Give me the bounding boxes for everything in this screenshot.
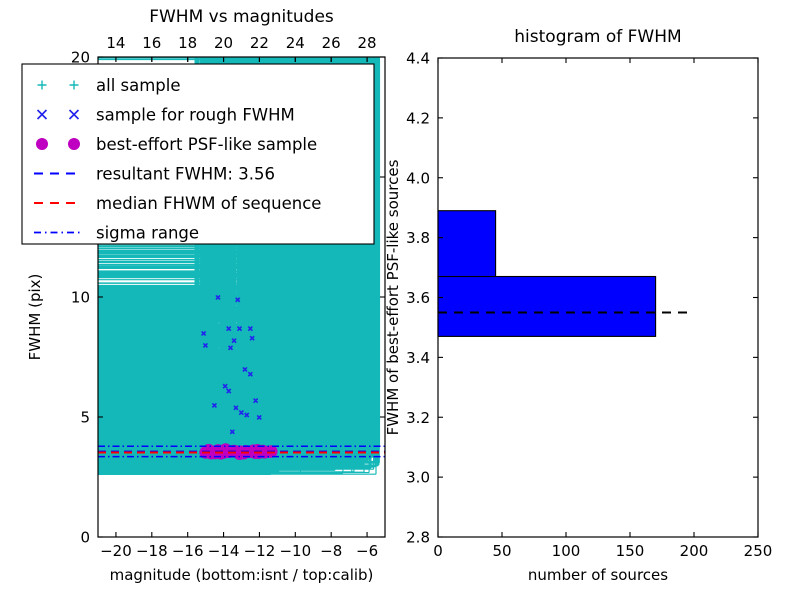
legend-circle-icon bbox=[68, 138, 80, 150]
right-xticklabel: 250 bbox=[744, 542, 773, 560]
right-yticklabel: 3.2 bbox=[406, 409, 430, 427]
left-xticklabel: −14 bbox=[208, 542, 240, 560]
right-yticklabel: 3.0 bbox=[406, 469, 430, 487]
left-xticklabel: −20 bbox=[100, 542, 132, 560]
legend-box bbox=[22, 64, 374, 244]
plot-canvas: −20−18−16−14−12−10−8−6141618202224262805… bbox=[0, 0, 800, 600]
left-top-xticklabel: 18 bbox=[178, 34, 197, 52]
left-yticklabel: 5 bbox=[80, 409, 90, 427]
histogram-bar bbox=[438, 211, 496, 277]
right-yaxis-label: FWHM of best-effort PSF-like sources bbox=[384, 159, 402, 435]
legend-item-label: all sample bbox=[96, 76, 181, 95]
left-top-xticklabel: 26 bbox=[322, 34, 341, 52]
scatter-psf-like-sample bbox=[199, 443, 277, 460]
legend-circle-icon bbox=[36, 138, 48, 150]
right-xticklabel: 150 bbox=[616, 542, 645, 560]
left-top-xticklabel: 20 bbox=[214, 34, 233, 52]
left-xticklabel: −12 bbox=[244, 542, 276, 560]
left-top-xticklabel: 16 bbox=[142, 34, 161, 52]
legend-item-label: resultant FWHM: 3.56 bbox=[96, 165, 275, 184]
left-top-xticklabel: 22 bbox=[250, 34, 269, 52]
right-xticklabel: 100 bbox=[552, 542, 581, 560]
left-top-xticklabel: 14 bbox=[106, 34, 125, 52]
left-yticklabel: 0 bbox=[80, 529, 90, 547]
left-xticklabel: −16 bbox=[172, 542, 204, 560]
right-yticklabel: 2.8 bbox=[406, 529, 430, 547]
right-xaxis-label: number of sources bbox=[528, 566, 668, 584]
left-yaxis-label: FWHM (pix) bbox=[26, 274, 44, 361]
left-xticklabel: −10 bbox=[279, 542, 311, 560]
right-yticklabel: 4.0 bbox=[406, 169, 430, 187]
left-xticklabel: −18 bbox=[136, 542, 168, 560]
right-yticklabel: 3.4 bbox=[406, 349, 430, 367]
legend-item-label: sample for rough FWHM bbox=[96, 106, 295, 125]
right-yticklabel: 3.8 bbox=[406, 229, 430, 247]
right-panel-title: histogram of FWHM bbox=[514, 27, 681, 47]
legend-item-label: sigma range bbox=[96, 224, 199, 243]
left-panel-title: FWHM vs magnitudes bbox=[149, 7, 334, 27]
left-top-xticklabel: 24 bbox=[286, 34, 305, 52]
right-xticklabel: 50 bbox=[492, 542, 511, 560]
right-xticklabel: 0 bbox=[433, 542, 443, 560]
right-xticklabel: 200 bbox=[680, 542, 709, 560]
left-panel-legend[interactable]: all samplesample for rough FWHMbest-effo… bbox=[22, 64, 374, 244]
right-yticklabel: 3.6 bbox=[406, 289, 430, 307]
left-xticklabel: −6 bbox=[356, 542, 378, 560]
right-yticklabel: 4.2 bbox=[406, 109, 430, 127]
left-top-xticklabel: 28 bbox=[358, 34, 377, 52]
legend-item-label: best-effort PSF-like sample bbox=[96, 135, 317, 154]
right-panel-histogram: 0501001502002502.83.03.23.43.63.84.04.24… bbox=[384, 27, 772, 584]
left-xticklabel: −8 bbox=[320, 542, 342, 560]
right-yticklabel: 4.4 bbox=[406, 50, 430, 68]
histogram-bar bbox=[438, 277, 656, 337]
legend-item-label: median FHWM of sequence bbox=[96, 194, 321, 213]
left-xaxis-label: magnitude (bottom:isnt / top:calib) bbox=[110, 566, 374, 584]
left-yticklabel: 10 bbox=[71, 289, 90, 307]
figure-root: −20−18−16−14−12−10−8−6141618202224262805… bbox=[0, 0, 800, 600]
